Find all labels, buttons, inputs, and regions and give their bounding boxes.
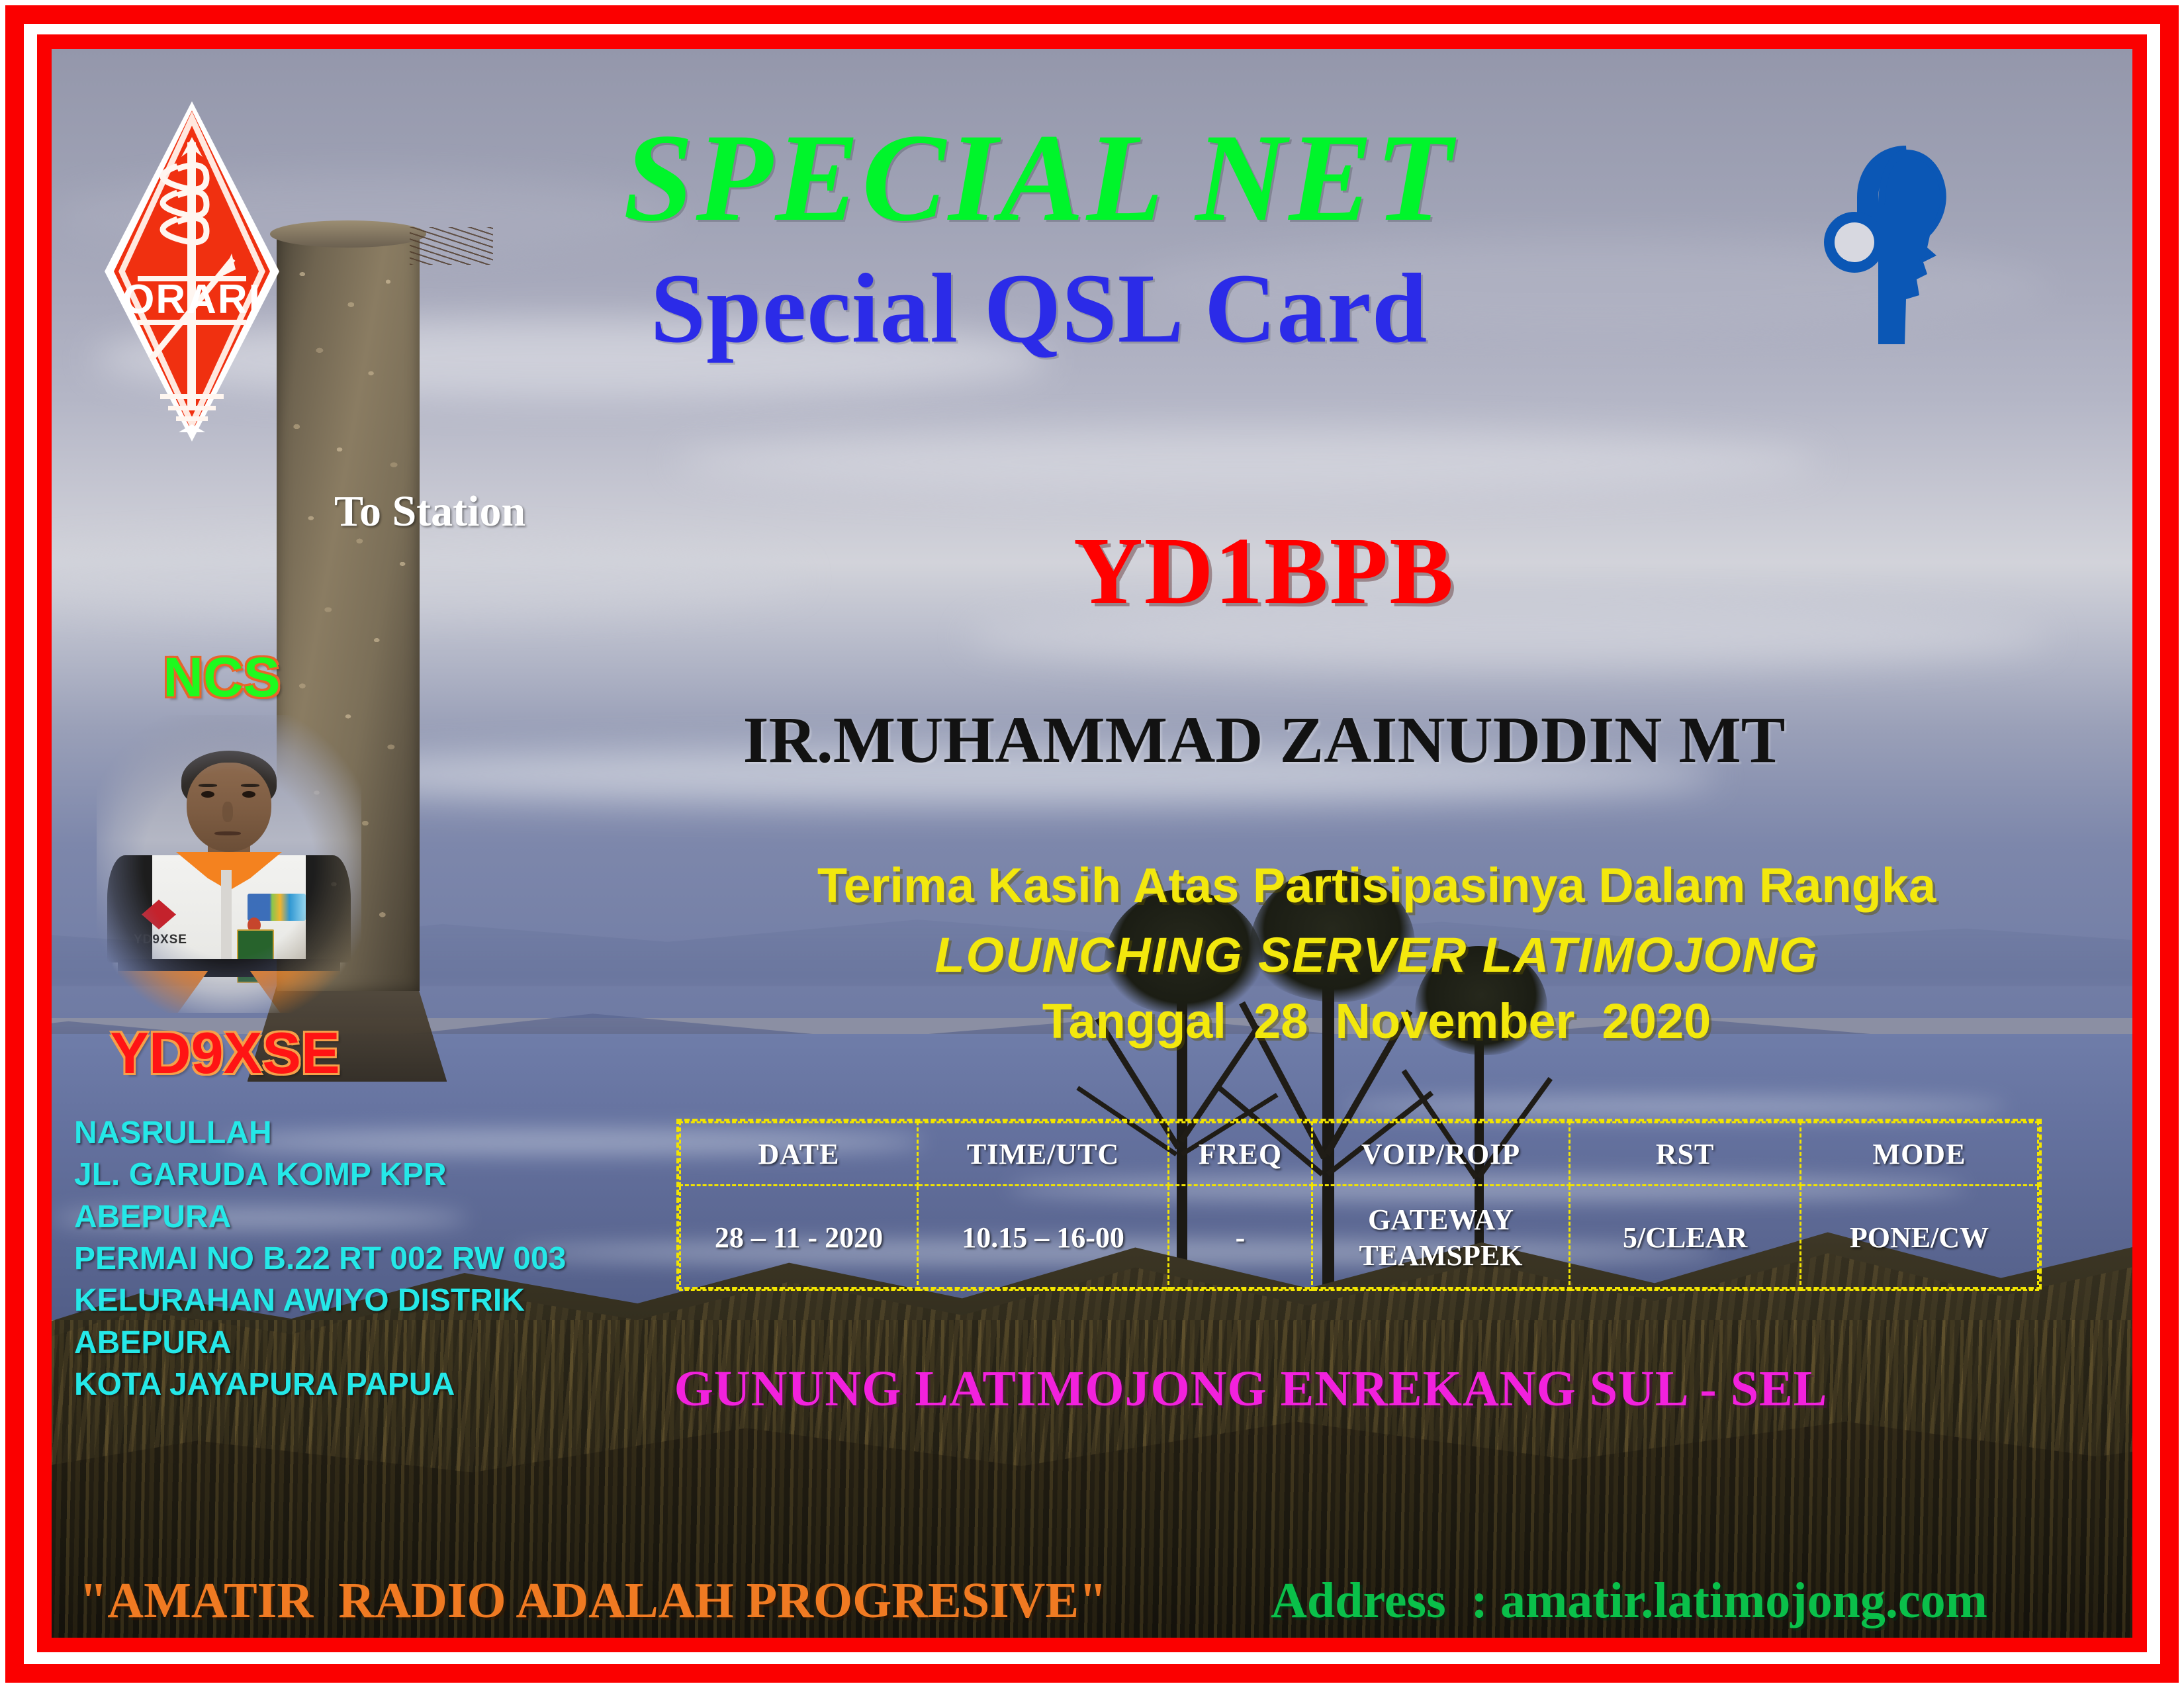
ncs-portrait-photo: YD9XSE [97, 715, 361, 1013]
recipient-callsign: YD1BPB [794, 516, 1734, 626]
operator-name: IR.MUHAMMAD ZAINUDDIN MT [596, 702, 1933, 778]
address-line: KOTA JAYAPURA PAPUA [74, 1364, 566, 1405]
column-header-rst: RST [1570, 1123, 1801, 1186]
address-line: ABEPURA [74, 1322, 566, 1364]
address-line: NASRULLAH [74, 1112, 566, 1154]
cell-date: 28 – 11 - 2020 [680, 1186, 918, 1290]
ncs-label: NCS [132, 645, 311, 710]
column-header-freq: FREQ [1169, 1123, 1312, 1186]
svg-text:ORARI: ORARI [122, 277, 261, 322]
shirt-callsign-text: YD9XSE [134, 933, 187, 947]
cell-freq: - [1169, 1186, 1312, 1290]
cell-voip: GATEWAY TEAMSPEK [1312, 1186, 1569, 1290]
page-title: SPECIAL NET [424, 106, 1655, 250]
radio-operator-headset-logo [1807, 106, 2085, 371]
ncs-callsign: YD9XSE [86, 1019, 364, 1087]
cloud-band [676, 430, 1820, 494]
to-station-label: To Station [334, 487, 525, 537]
qsl-card: ORARI SPECIAL NET Special QSL Card To St… [0, 0, 2184, 1688]
location-line: GUNUNG LATIMOJONG ENREKANG SUL - SEL [516, 1360, 1985, 1418]
column-header-mode: MODE [1801, 1123, 2038, 1186]
column-header-voip: VOIP/ROIP [1312, 1123, 1569, 1186]
cell-rst: 5/CLEAR [1570, 1186, 1801, 1290]
cell-mode: PONE/CW [1801, 1186, 2038, 1290]
page-subtitle: Special QSL Card [424, 252, 1655, 365]
event-date-line: Tanggal 28 November 2020 [695, 993, 2058, 1049]
column-header-date: DATE [680, 1123, 918, 1186]
address-line: JL. GARUDA KOMP KPR [74, 1154, 566, 1196]
thanks-line: Terima Kasih Atas Partisipasinya Dalam R… [695, 857, 2058, 914]
address-line: PERMAI NO B.22 RT 002 RW 003 [74, 1238, 566, 1280]
orari-logo: ORARI [99, 96, 285, 447]
ncs-address-block: NASRULLAH JL. GARUDA KOMP KPR ABEPURA PE… [74, 1112, 566, 1406]
web-address-text: Address : amatir.latimojong.com [1271, 1572, 1987, 1630]
address-line: ABEPURA [74, 1196, 566, 1238]
column-header-time: TIME/UTC [917, 1123, 1168, 1186]
event-line: LOUNCHING SERVER LATIMOJONG [695, 927, 2058, 983]
qso-details-table: DATE TIME/UTC FREQ VOIP/ROIP RST MODE 28… [676, 1119, 2042, 1289]
monument-cap [270, 220, 426, 248]
cell-time: 10.15 – 16-00 [917, 1186, 1168, 1290]
address-line: KELURAHAN AWIYO DISTRIK [74, 1280, 566, 1321]
motto-text: "AMATIR RADIO ADALAH PROGRESIVE" [79, 1572, 1107, 1630]
club-logo-patch [248, 894, 306, 921]
table-row: 28 – 11 - 2020 10.15 – 16-00 - GATEWAY T… [680, 1186, 2038, 1290]
table-header-row: DATE TIME/UTC FREQ VOIP/ROIP RST MODE [680, 1123, 2038, 1186]
